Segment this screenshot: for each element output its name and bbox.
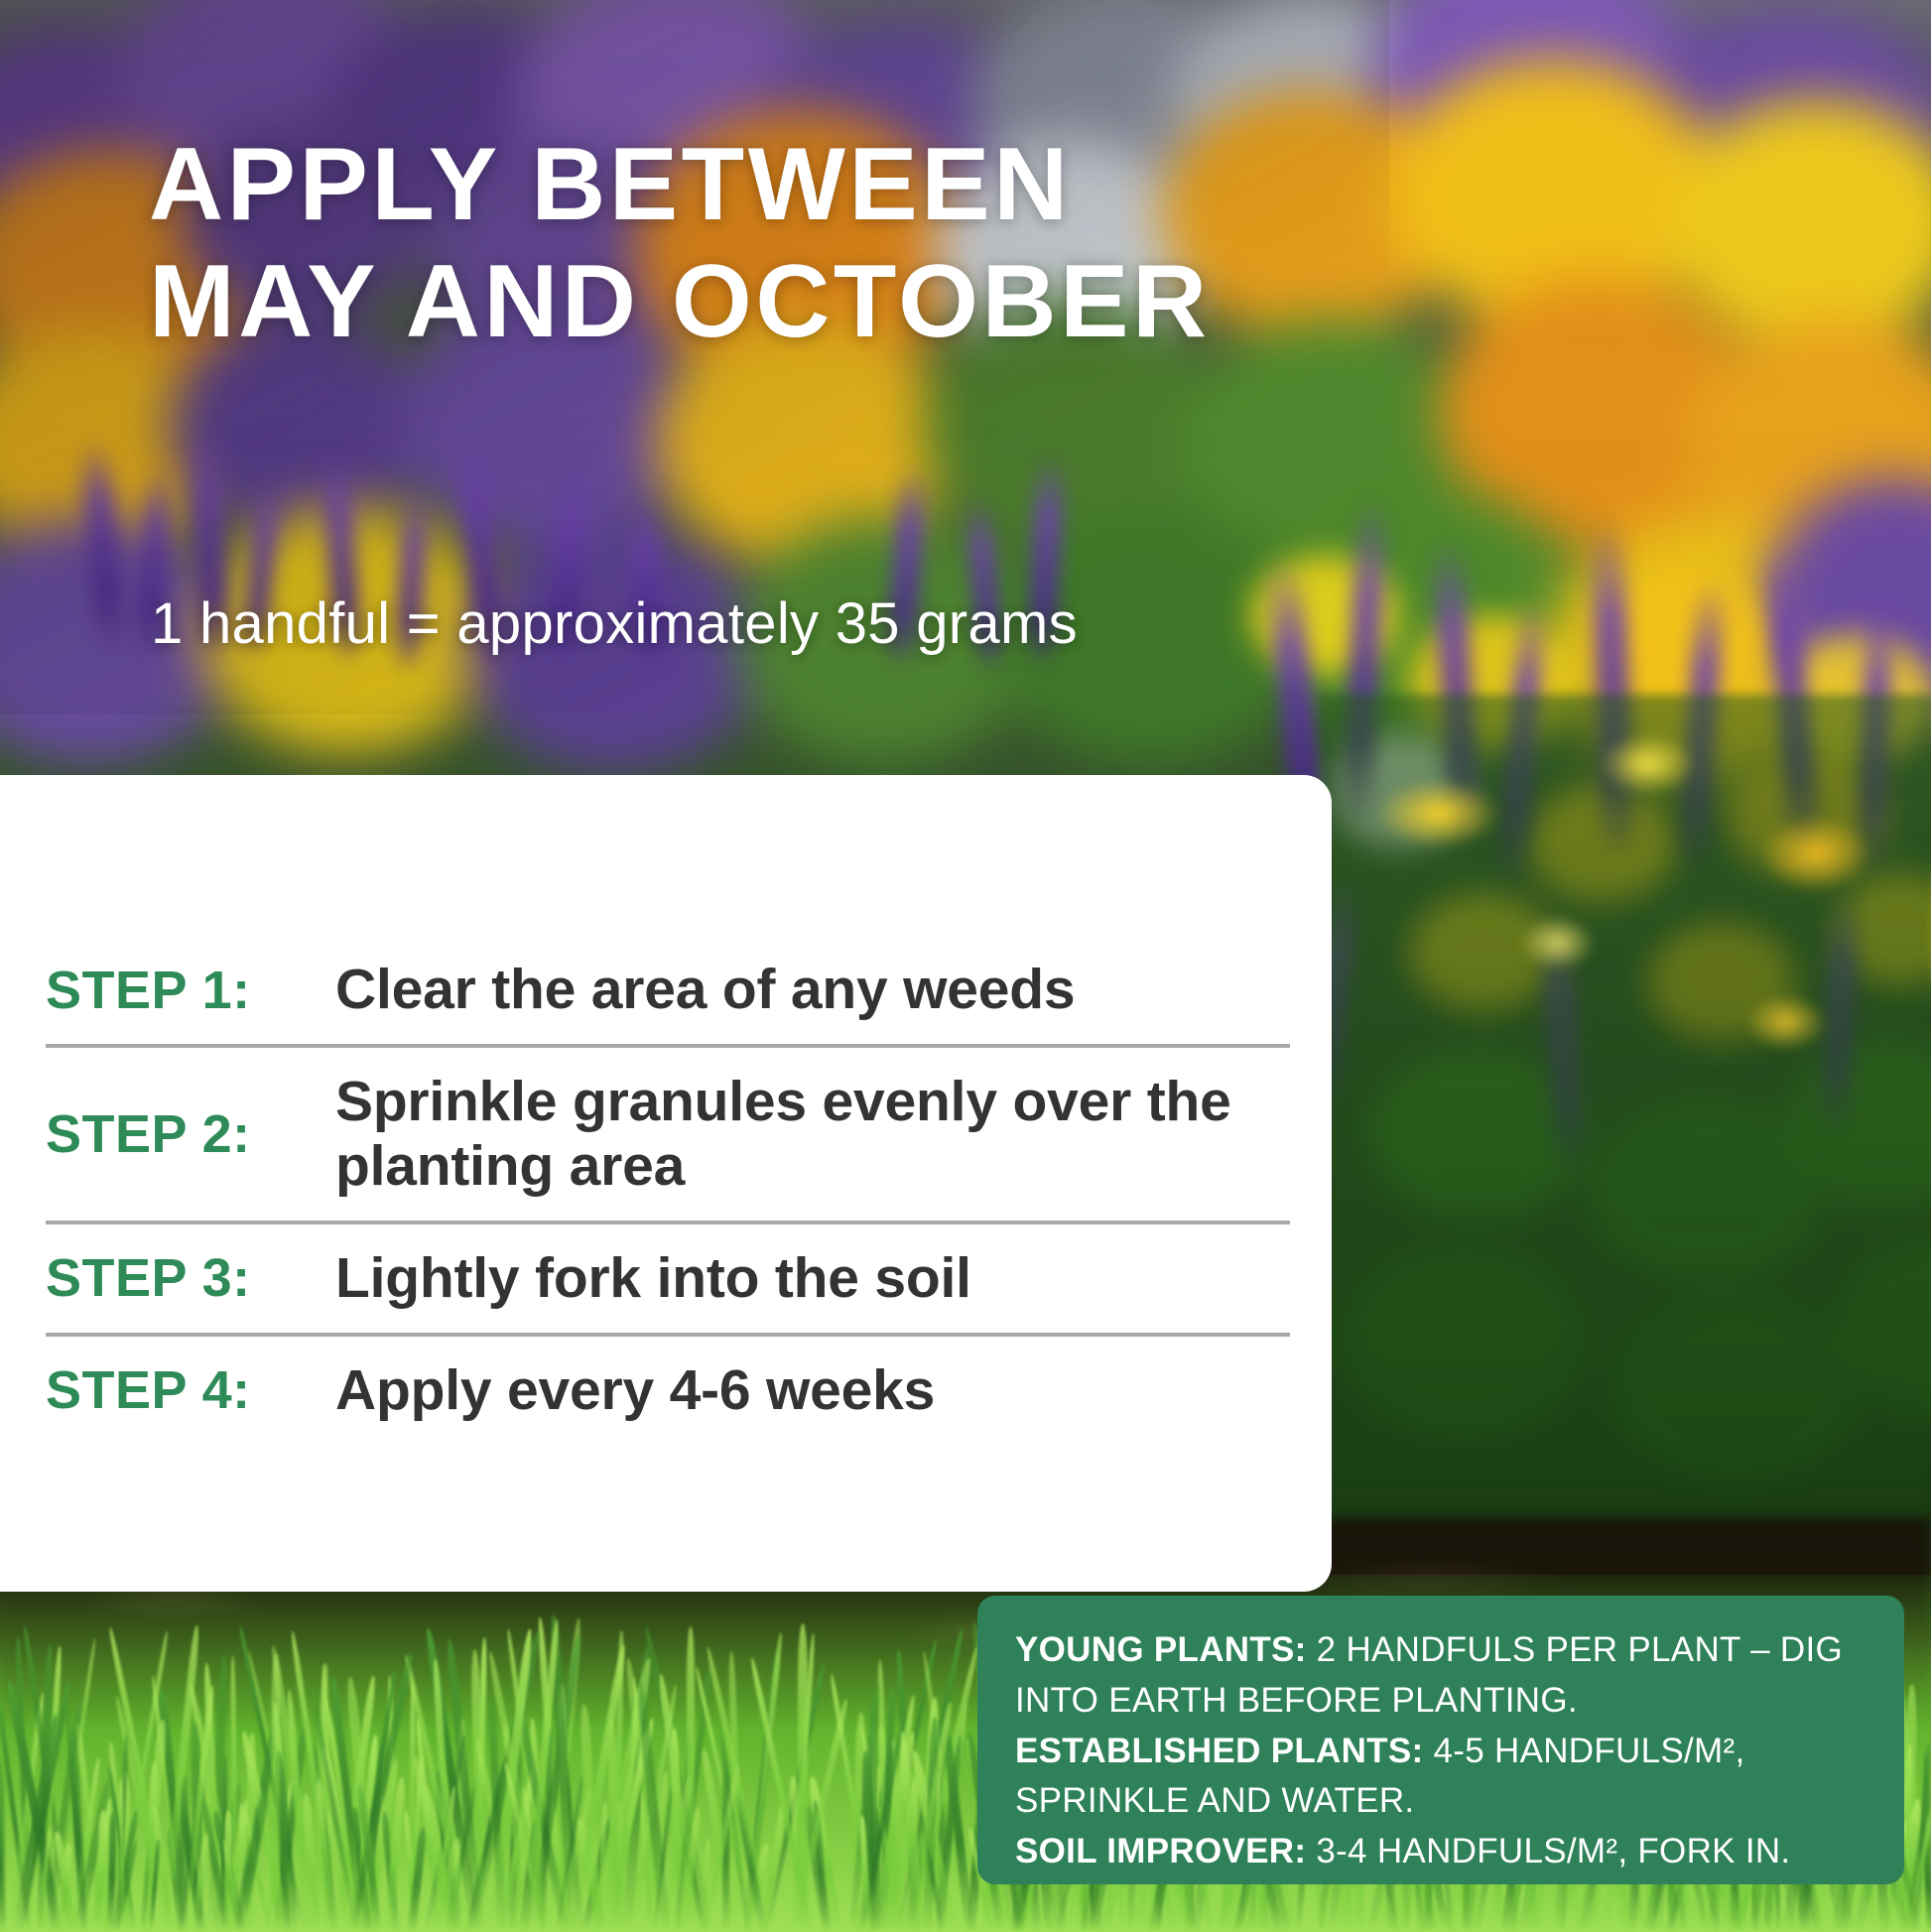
- step-row: STEP 4: Apply every 4-6 weeks: [46, 1343, 1288, 1439]
- poster-root: APPLY BETWEEN MAY AND OCTOBER 1 handful …: [0, 0, 1931, 1932]
- step-label: STEP 2:: [46, 1103, 302, 1165]
- page-title: APPLY BETWEEN MAY AND OCTOBER: [149, 127, 1300, 360]
- step-label: STEP 3:: [46, 1247, 302, 1309]
- step-label: STEP 1:: [46, 960, 302, 1021]
- subtitle-handful-conversion: 1 handful = approximately 35 grams: [151, 590, 1078, 657]
- steps-card: STEP 1: Clear the area of any weeds STEP…: [0, 775, 1332, 1592]
- dosage-info-box: YOUNG PLANTS: 2 HANDFULS PER PLANT – DIG…: [977, 1596, 1904, 1884]
- step-text: Clear the area of any weeds: [335, 958, 1075, 1022]
- step-row: STEP 1: Clear the area of any weeds: [46, 942, 1288, 1038]
- step-text: Apply every 4-6 weeks: [335, 1358, 935, 1423]
- dosage-title: YOUNG PLANTS:: [1015, 1630, 1307, 1669]
- foreground-foliage-right: [1320, 695, 1931, 1627]
- dosage-title: ESTABLISHED PLANTS:: [1015, 1732, 1423, 1770]
- step-text: Sprinkle granules evenly over the planti…: [335, 1070, 1288, 1199]
- dosage-body: 3-4 HANDFULS/M², FORK IN.: [1306, 1832, 1790, 1870]
- step-divider: [46, 1221, 1290, 1224]
- step-divider: [46, 1044, 1290, 1048]
- step-row: STEP 2: Sprinkle granules evenly over th…: [46, 1054, 1288, 1215]
- dosage-line-soil-improver: SOIL IMPROVER: 3-4 HANDFULS/M², FORK IN.: [1015, 1827, 1867, 1877]
- step-text: Lightly fork into the soil: [335, 1246, 971, 1311]
- step-divider: [46, 1333, 1290, 1337]
- dosage-title: SOIL IMPROVER:: [1015, 1832, 1306, 1870]
- step-row: STEP 3: Lightly fork into the soil: [46, 1230, 1288, 1327]
- dosage-line-young-plants: YOUNG PLANTS: 2 HANDFULS PER PLANT – DIG…: [1015, 1625, 1867, 1727]
- step-label: STEP 4:: [46, 1359, 302, 1421]
- dosage-line-established-plants: ESTABLISHED PLANTS: 4-5 HANDFULS/M², SPR…: [1015, 1727, 1867, 1828]
